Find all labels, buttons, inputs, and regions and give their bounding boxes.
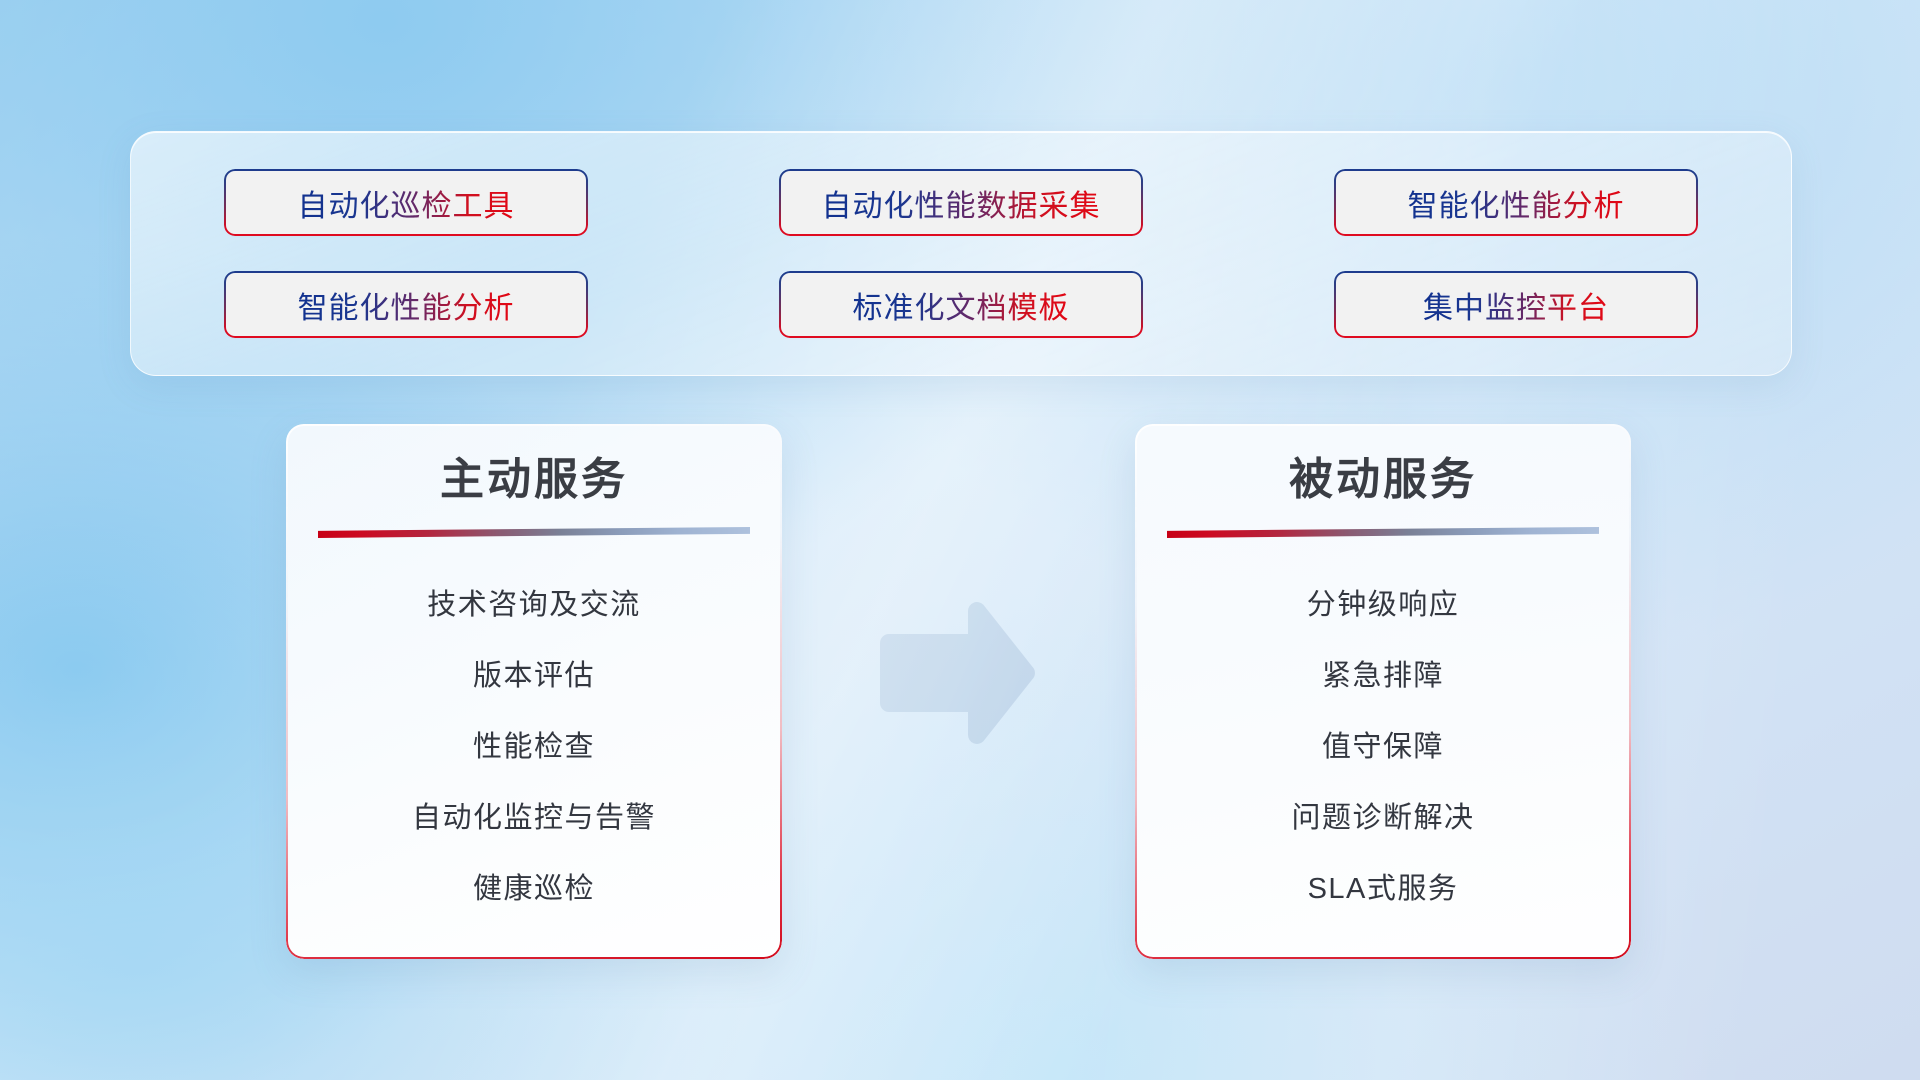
- pill-label: 智能化性能分析: [298, 283, 515, 327]
- list-item: 自动化监控与告警: [412, 794, 656, 836]
- pill-auto-perf-data-collect[interactable]: 自动化性能数据采集: [781, 171, 1141, 234]
- card-passive-service-title: 被动服务: [1289, 452, 1477, 507]
- card-active-service-title: 主动服务: [440, 452, 628, 507]
- list-item: 紧急排障: [1322, 652, 1444, 694]
- list-item: 技术咨询及交流: [427, 581, 641, 623]
- list-item: 分钟级响应: [1307, 581, 1460, 623]
- slide-canvas: 自动化巡检工具 自动化性能数据采集 智能化性能分析 智能化性能分析 标准化文档模…: [0, 0, 1920, 1080]
- gradient-divider-bar: [1167, 527, 1599, 538]
- right-arrow-icon: [872, 600, 1040, 748]
- pill-auto-inspection-tool[interactable]: 自动化巡检工具: [226, 171, 586, 234]
- gradient-divider-bar: [318, 527, 750, 538]
- card-divider: [1167, 527, 1599, 543]
- pill-label: 标准化文档模板: [853, 283, 1070, 327]
- pill-label: 智能化性能分析: [1408, 181, 1625, 225]
- capability-pill-grid: 自动化巡检工具 自动化性能数据采集 智能化性能分析 智能化性能分析 标准化文档模…: [226, 171, 1696, 336]
- card-active-service[interactable]: 主动服务 技术咨询及交流 版本评估 性能检查 自动化监控与告警 健康巡检: [286, 424, 782, 959]
- pill-central-monitor-platform[interactable]: 集中监控平台: [1336, 273, 1696, 336]
- list-item: 问题诊断解决: [1291, 794, 1474, 836]
- list-item: 健康巡检: [473, 865, 595, 907]
- card-active-service-body: 主动服务 技术咨询及交流 版本评估 性能检查 自动化监控与告警 健康巡检: [286, 424, 782, 959]
- card-passive-service-body: 被动服务 分钟级响应 紧急排障 值守保障 问题诊断解决 SLA式服务: [1135, 424, 1631, 959]
- list-item: 性能检查: [473, 723, 595, 765]
- list-item: SLA式服务: [1308, 865, 1459, 907]
- list-item: 值守保障: [1322, 723, 1444, 765]
- pill-standard-doc-template[interactable]: 标准化文档模板: [781, 273, 1141, 336]
- pill-intelligent-perf-analysis-2[interactable]: 智能化性能分析: [226, 273, 586, 336]
- pill-label: 自动化巡检工具: [298, 181, 515, 225]
- card-divider: [318, 527, 750, 543]
- pill-label: 自动化性能数据采集: [822, 181, 1101, 225]
- pill-label: 集中监控平台: [1423, 283, 1609, 327]
- card-active-service-list: 技术咨询及交流 版本评估 性能检查 自动化监控与告警 健康巡检: [412, 581, 656, 907]
- card-passive-service[interactable]: 被动服务 分钟级响应 紧急排障 值守保障 问题诊断解决 SLA式服务: [1135, 424, 1631, 959]
- list-item: 版本评估: [473, 652, 595, 694]
- card-passive-service-list: 分钟级响应 紧急排障 值守保障 问题诊断解决 SLA式服务: [1291, 581, 1474, 907]
- capability-panel: 自动化巡检工具 自动化性能数据采集 智能化性能分析 智能化性能分析 标准化文档模…: [130, 131, 1792, 376]
- pill-intelligent-perf-analysis-1[interactable]: 智能化性能分析: [1336, 171, 1696, 234]
